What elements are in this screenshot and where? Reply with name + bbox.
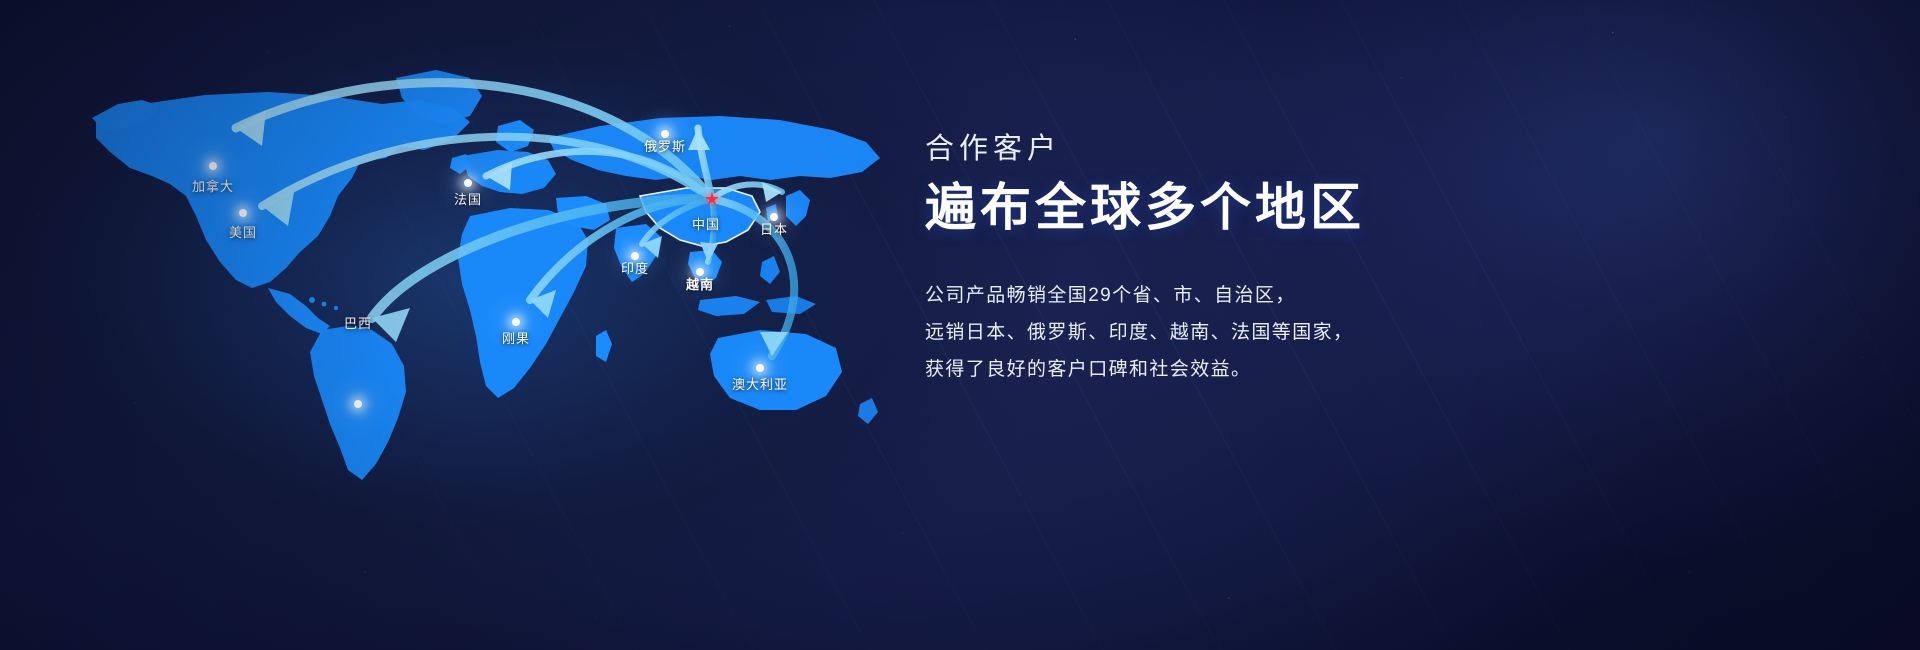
city-label-congo: 刚果 <box>502 328 530 347</box>
world-map-banner: 加拿大美国巴西刚果法国俄罗斯印度日本越南澳大利亚中国 合作客户 遍布全球多个地区… <box>0 0 1920 650</box>
city-label-canada: 加拿大 <box>192 176 234 195</box>
city-label-china: 中国 <box>692 214 720 233</box>
world-map: 加拿大美国巴西刚果法国俄罗斯印度日本越南澳大利亚中国 <box>0 0 1000 650</box>
city-label-australia: 澳大利亚 <box>732 374 788 393</box>
city-marker-australia[interactable] <box>756 364 764 372</box>
city-label-brazil: 巴西 <box>344 313 372 332</box>
city-label-russia: 俄罗斯 <box>644 136 686 155</box>
description-line: 公司产品畅销全国29个省、市、自治区， <box>925 277 1485 314</box>
banner-description: 公司产品畅销全国29个省、市、自治区，远销日本、俄罗斯、印度、越南、法国等国家，… <box>925 277 1485 388</box>
city-marker-france[interactable] <box>464 179 472 187</box>
city-marker-usa[interactable] <box>239 209 247 217</box>
city-marker-brazil[interactable] <box>354 400 362 408</box>
banner-text-panel: 合作客户 遍布全球多个地区 公司产品畅销全国29个省、市、自治区，远销日本、俄罗… <box>925 132 1485 388</box>
description-line: 远销日本、俄罗斯、印度、越南、法国等国家， <box>925 314 1485 351</box>
city-marker-congo[interactable] <box>512 318 520 326</box>
banner-headline: 遍布全球多个地区 <box>925 177 1485 239</box>
city-label-india: 印度 <box>621 258 649 277</box>
city-label-japan: 日本 <box>760 219 788 238</box>
city-label-usa: 美国 <box>229 222 257 241</box>
description-line: 获得了良好的客户口碑和社会效益。 <box>925 351 1485 388</box>
city-label-france: 法国 <box>454 189 482 208</box>
city-marker-canada[interactable] <box>209 162 217 170</box>
world-map-svg <box>0 0 1000 650</box>
banner-eyebrow: 合作客户 <box>925 132 1485 167</box>
city-label-vietnam: 越南 <box>686 274 714 293</box>
